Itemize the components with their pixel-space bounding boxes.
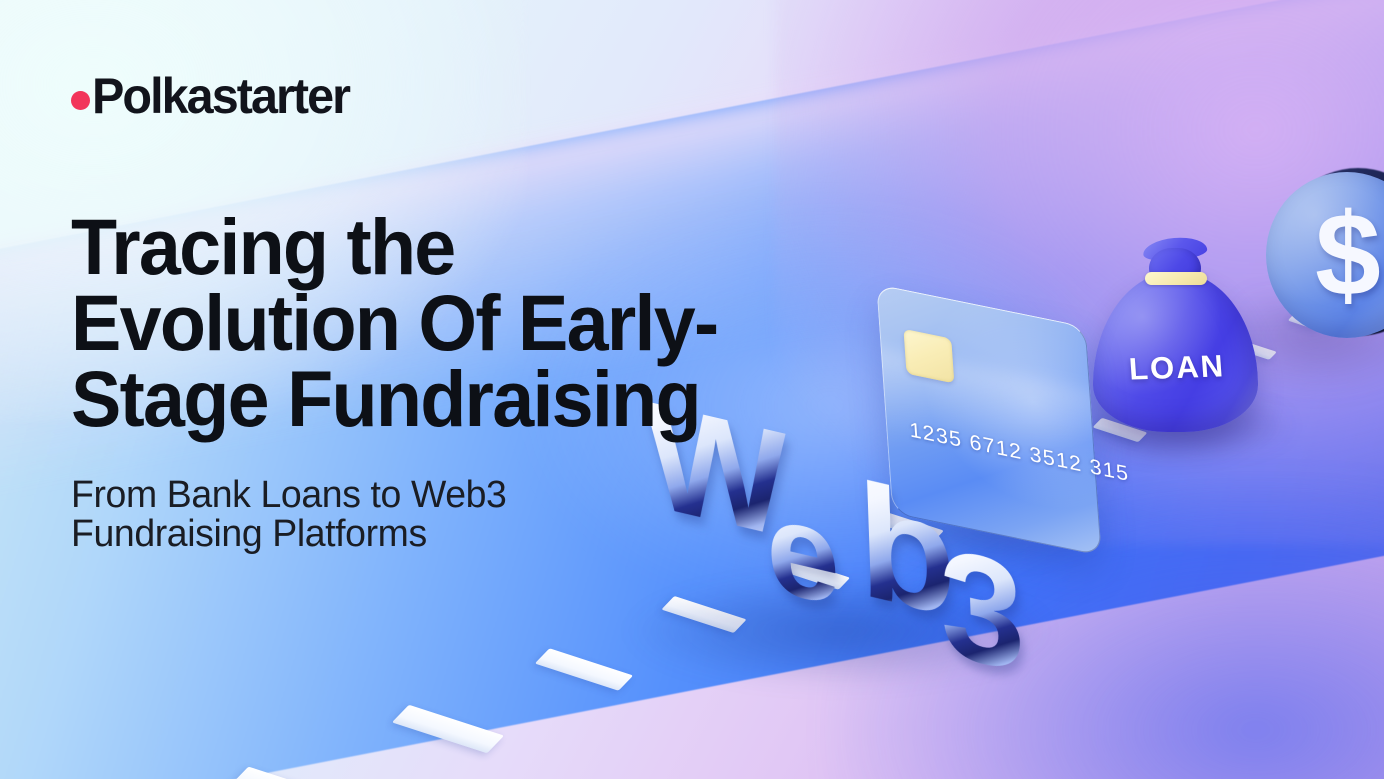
background-deep-blue-corner <box>830 483 1384 779</box>
page-title: Tracing the Evolution Of Early-Stage Fun… <box>71 209 768 437</box>
polkastarter-logo[interactable]: Polkastarter <box>71 68 357 124</box>
hero-banner: $ LOAN 1235 6712 3512 315 W e b 3 <box>0 0 1384 779</box>
page-subtitle: From Bank Loans to Web3 Fundraising Plat… <box>71 476 534 554</box>
logo-wordmark: Polkastarter <box>92 71 349 121</box>
logo-dot-icon <box>71 91 90 110</box>
